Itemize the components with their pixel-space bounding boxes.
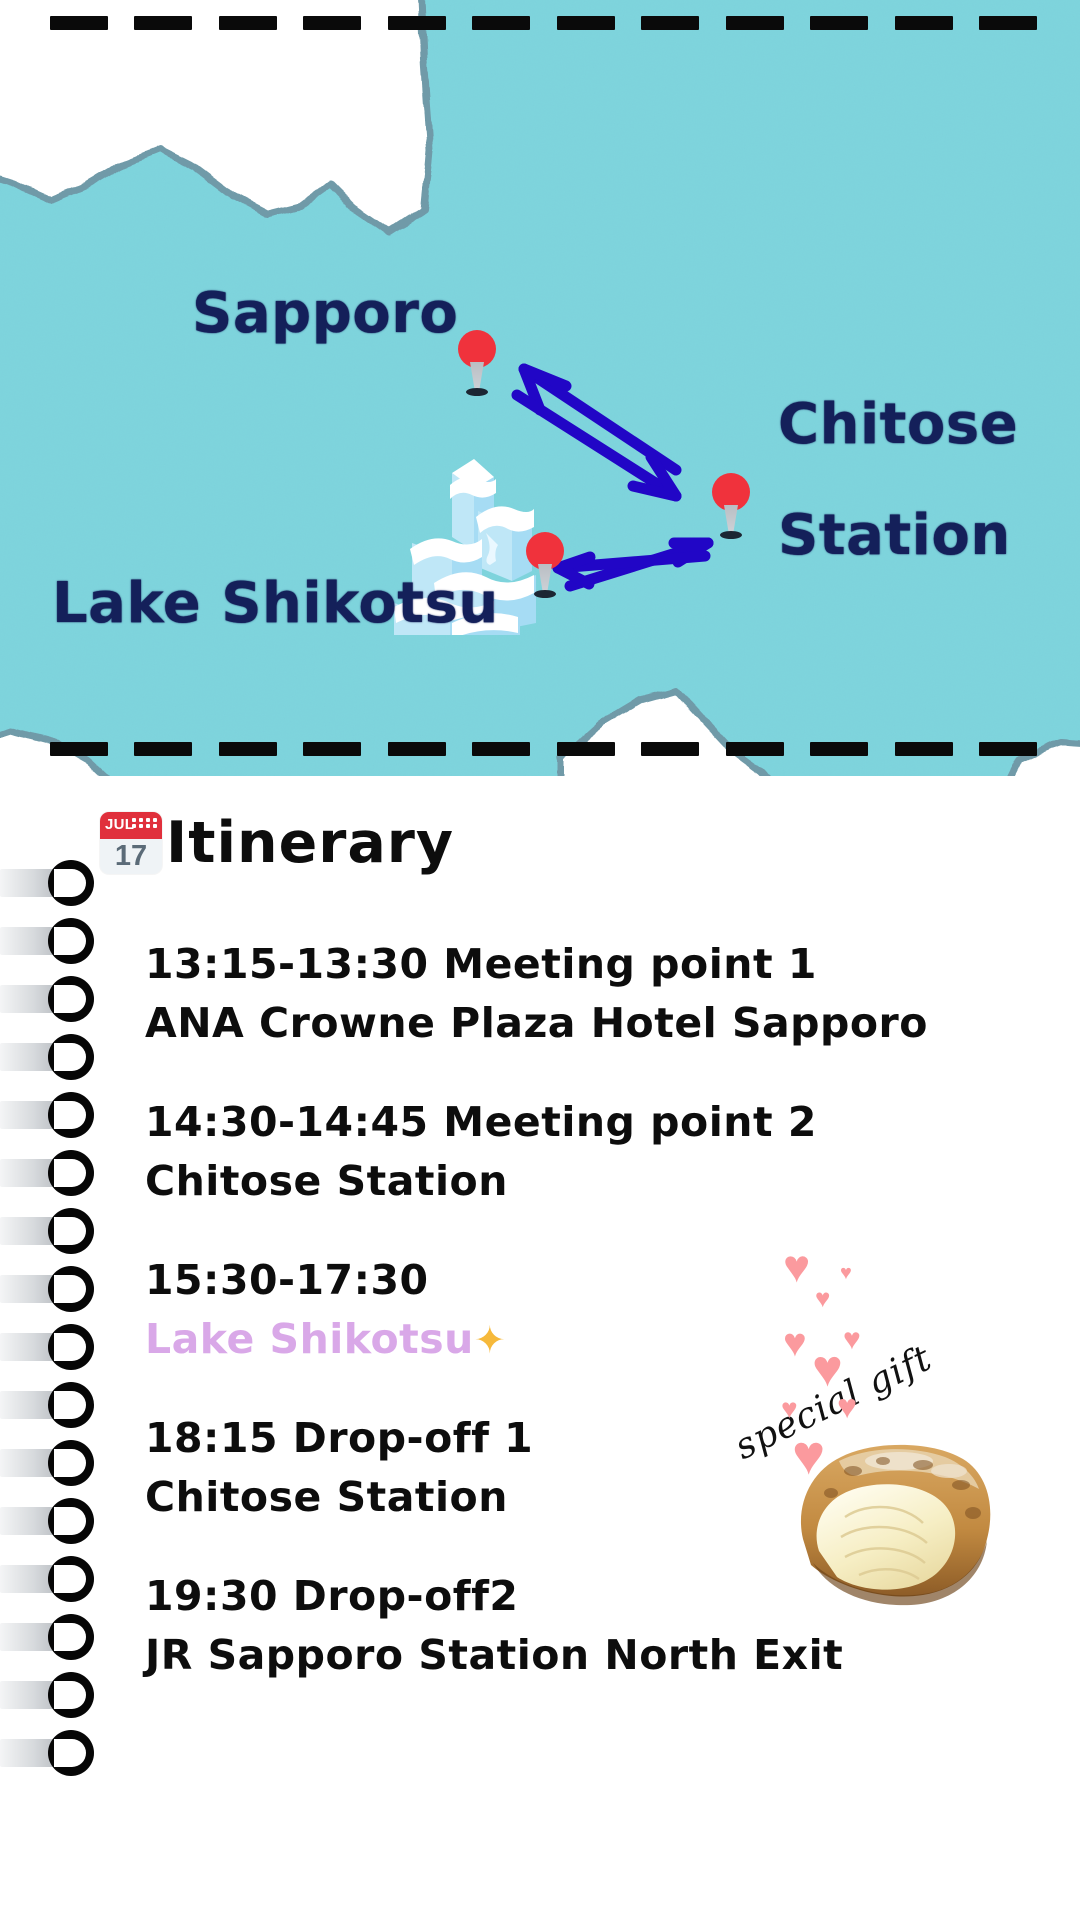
entry-time: 14:30-14:45 Meeting point 2 [145, 1093, 1005, 1152]
heart-icon: ♥ [837, 1390, 857, 1424]
binding-ring [0, 1208, 104, 1254]
heart-icon: ♥ [840, 1263, 852, 1283]
map-label-chitose: Chitose [778, 397, 1018, 453]
binding-ring [0, 1556, 104, 1602]
entry-time: 13:15-13:30 Meeting point 1 [145, 935, 1005, 994]
binding-ring [0, 1092, 104, 1138]
binding-ring [0, 1672, 104, 1718]
binding-ring [0, 1266, 104, 1312]
heart-icon: ♥ [843, 1325, 861, 1355]
sparkles-icon: ✦ [474, 1318, 506, 1362]
entry-place: Chitose Station [145, 1152, 1005, 1211]
binding-ring [0, 1034, 104, 1080]
itinerary-entry: 13:15-13:30 Meeting point 1ANA Crowne Pl… [145, 935, 1005, 1053]
pin-shadow [534, 590, 556, 598]
map-label-sapporo: Sapporo [192, 286, 458, 342]
map-panel[interactable]: Sapporo Chitose Station Lake Shikotsu [0, 0, 1080, 776]
itinerary-heading: JUL 17 Itinerary [100, 812, 454, 874]
binding-ring [0, 1730, 104, 1776]
binding-ring [0, 1382, 104, 1428]
map-label-station: Station [778, 508, 1011, 564]
binding-ring [0, 1614, 104, 1660]
binding-ring [0, 918, 104, 964]
pin-shadow [466, 388, 488, 396]
page-title: Itinerary [166, 815, 454, 872]
dashed-border-top [50, 16, 1037, 30]
binding-ring [0, 1498, 104, 1544]
heart-icon: ♥ [783, 1323, 807, 1363]
binding-ring [0, 1324, 104, 1370]
calendar-month: JUL [105, 816, 134, 833]
map-label-lake-shikotsu: Lake Shikotsu [52, 576, 499, 632]
entry-place: ANA Crowne Plaza Hotel Sapporo [145, 994, 1005, 1053]
heart-icon: ♥ [781, 1395, 798, 1423]
entry-place-text: ANA Crowne Plaza Hotel Sapporo [145, 999, 928, 1047]
pin-shadow [720, 531, 742, 539]
itinerary-entry: 14:30-14:45 Meeting point 2Chitose Stati… [145, 1093, 1005, 1211]
heart-icon: ♥ [792, 1427, 825, 1483]
binding-ring [0, 1440, 104, 1486]
calendar-day: 17 [100, 839, 162, 874]
calendar-icon: JUL 17 [100, 812, 162, 874]
entry-place-text: Chitose Station [145, 1157, 508, 1205]
binding-ring [0, 976, 104, 1022]
entry-place-text: Lake Shikotsu [145, 1315, 474, 1363]
lake-shikotsu-pin[interactable] [519, 532, 571, 602]
special-gift-block: special gift [735, 1235, 1080, 1655]
entry-place-text: Chitose Station [145, 1473, 508, 1521]
itinerary-page: Sapporo Chitose Station Lake Shikotsu JU… [0, 0, 1080, 1920]
sapporo-pin[interactable] [451, 330, 503, 400]
binding-ring [0, 1150, 104, 1196]
map-canvas [0, 0, 1080, 776]
heart-icon: ♥ [783, 1243, 810, 1289]
spiral-binding [0, 860, 110, 1800]
heart-icon: ♥ [815, 1285, 830, 1311]
dashed-border-bottom [50, 742, 1037, 756]
chitose-station-pin[interactable] [705, 473, 757, 543]
binding-ring [0, 860, 104, 906]
